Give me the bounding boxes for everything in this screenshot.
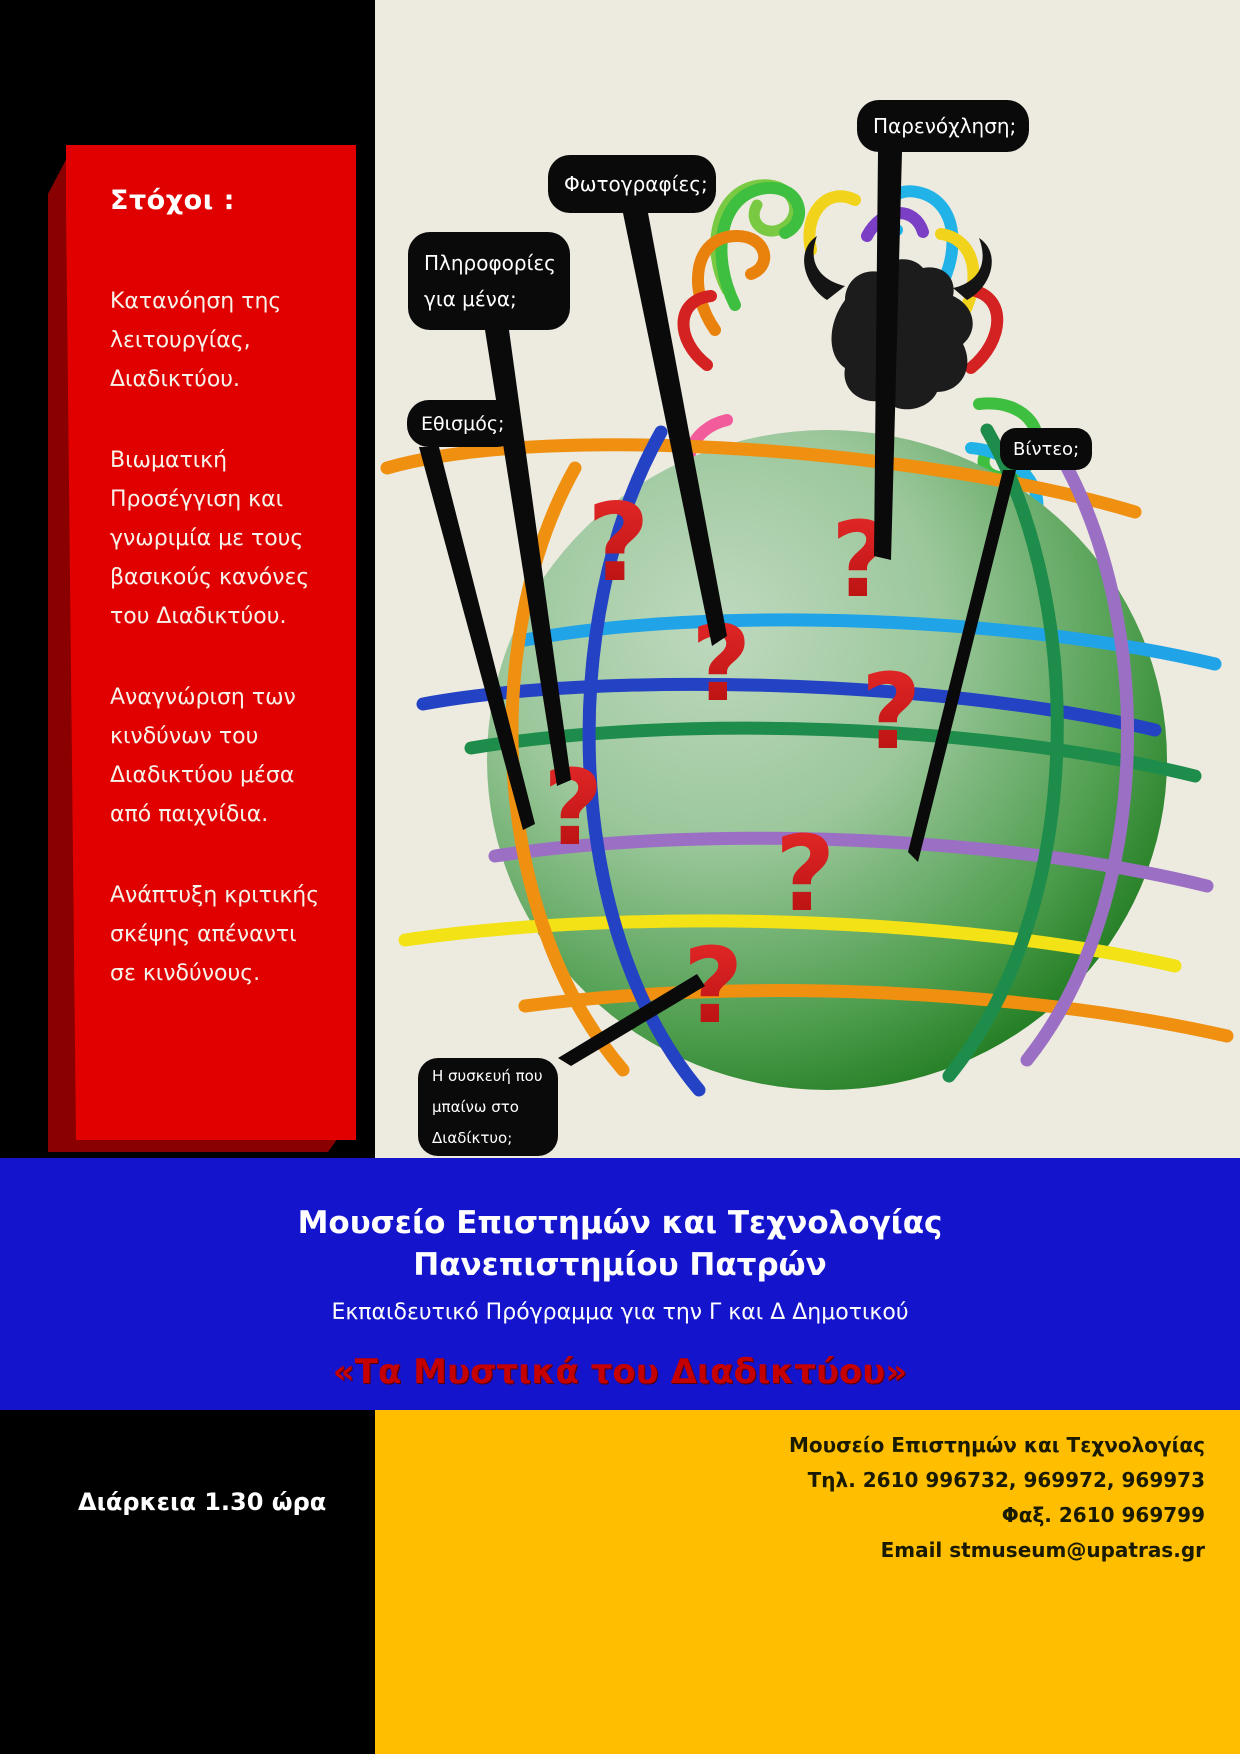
objective-item-2: Βιωματική Προσέγγιση και γνωριμία με του… [110,441,325,636]
objectives-content: Στόχοι : Κατανόηση της λειτουργίας, Διαδ… [110,185,325,993]
contact-org: Μουσείο Επιστημών και Τεχνολογίας [415,1428,1205,1463]
callout-personal-info-line2: για μένα; [424,281,554,317]
contact-fax: Φαξ. 2610 969799 [415,1498,1205,1533]
callout-video[interactable]: Βίντεο; [1000,428,1092,470]
museum-name: Μουσείο Επιστημών και Τεχνολογίας Πανεπι… [120,1202,1120,1286]
callout-device-line1: Η συσκευή που [432,1061,544,1092]
callout-pointers [375,0,1240,1158]
callout-harassment[interactable]: Παρενόχληση; [857,100,1029,152]
callout-personal-info-line1: Πληροφορίες [424,245,554,281]
objective-item-4: Ανάπτυξη κριτικής σκέψης απέναντι σε κιν… [110,876,325,993]
callout-device-line2: μπαίνω στο [432,1092,544,1123]
objective-item-1: Κατανόηση της λειτουργίας, Διαδικτύου. [110,282,325,399]
callout-photos[interactable]: Φωτογραφίες; [548,155,716,213]
duration-label: Διάρκεια 1.30 ώρα [78,1488,326,1516]
museum-name-line2: Πανεπιστημίου Πατρών [120,1244,1120,1286]
museum-name-line1: Μουσείο Επιστημών και Τεχνολογίας [120,1202,1120,1244]
contact-email[interactable]: Email stmuseum@upatras.gr [415,1533,1205,1568]
callout-device-line3: Διαδίκτυο; [432,1123,544,1154]
callout-video-label: Βίντεο; [1013,439,1079,460]
program-audience-line: Εκπαιδευτικό Πρόγραμμα για την Γ και Δ Δ… [120,1300,1120,1325]
poster-canvas: Στόχοι : Κατανόηση της λειτουργίας, Διαδ… [0,0,1240,1754]
callout-personal-info[interactable]: Πληροφορίες για μένα; [408,232,570,330]
program-title: «Τα Μυστικά του Διαδικτύου» [120,1352,1120,1392]
callout-photos-label: Φωτογραφίες; [564,172,700,196]
contact-details: Μουσείο Επιστημών και Τεχνολογίας Τηλ. 2… [415,1428,1205,1568]
callout-device[interactable]: Η συσκευή που μπαίνω στο Διαδίκτυο; [418,1058,558,1156]
callout-addiction[interactable]: Εθισμός; [407,400,519,447]
callout-addiction-label: Εθισμός; [421,413,505,435]
contact-phone: Τηλ. 2610 996732, 969972, 969973 [415,1463,1205,1498]
objectives-title: Στόχοι : [110,185,325,216]
callout-harassment-label: Παρενόχληση; [873,114,1013,138]
objective-item-3: Αναγνώριση των κινδύνων του Διαδικτύου μ… [110,678,325,834]
